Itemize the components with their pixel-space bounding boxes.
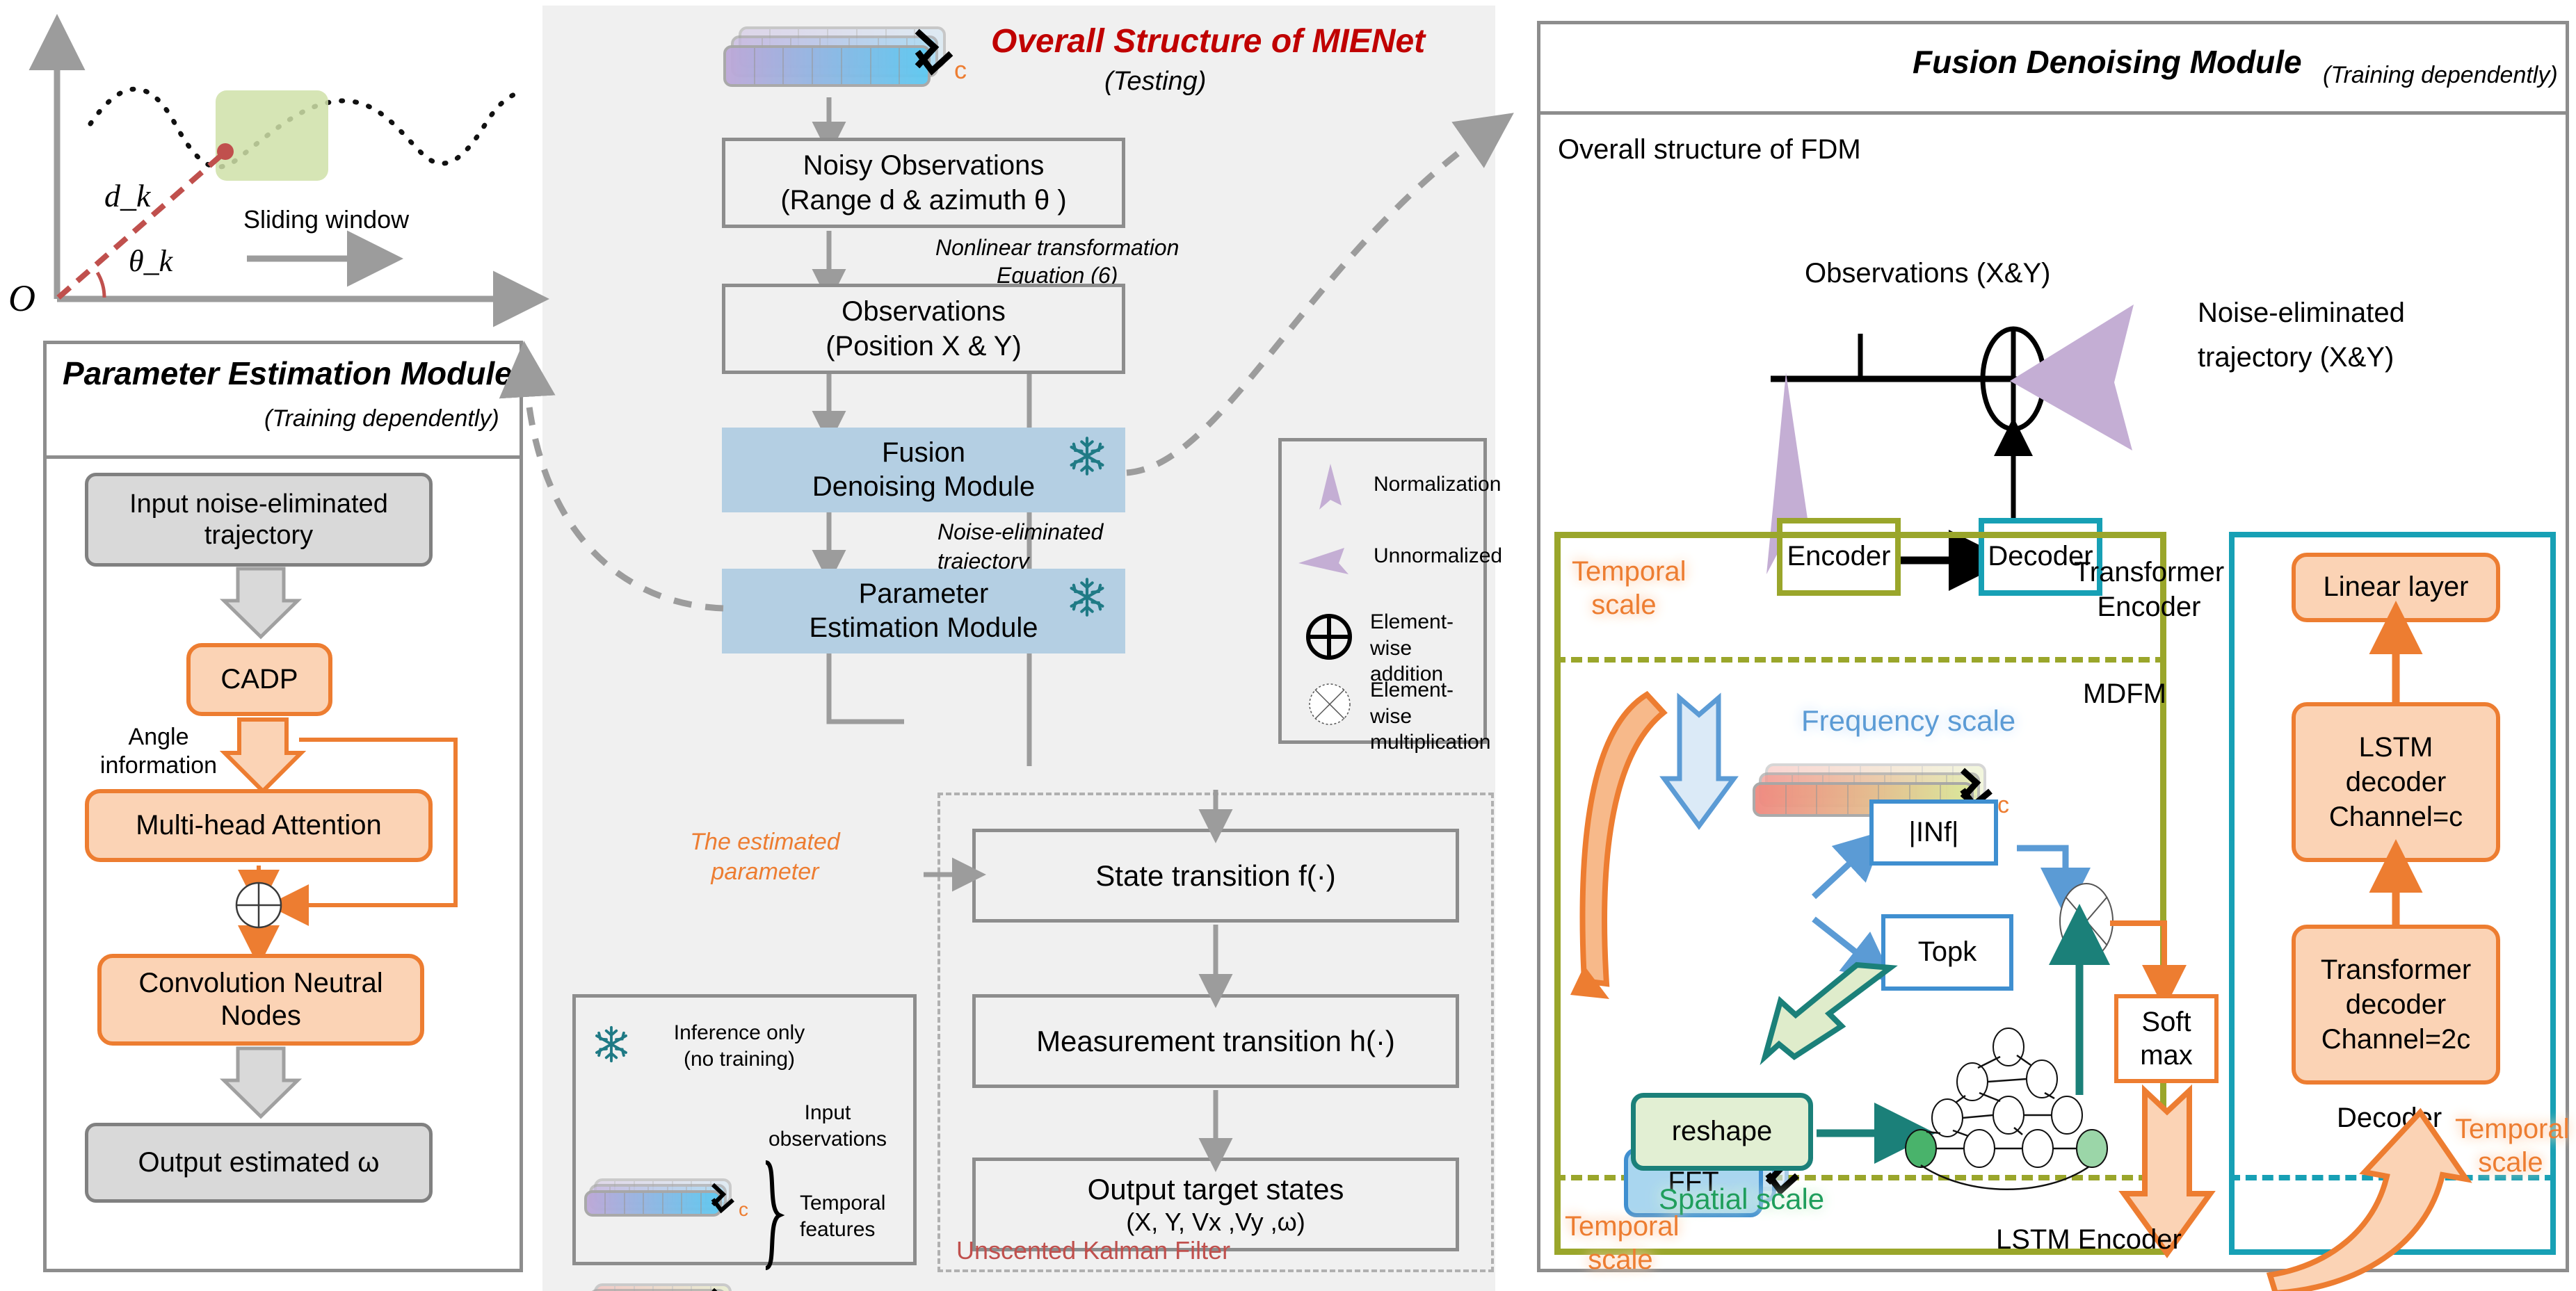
circle-times-icon: [1305, 680, 1354, 729]
decoder-transformer-decoder[interactable]: Transformer decoder Channel=2c: [2292, 925, 2500, 1085]
legend-snowflake-l1: Inference only: [674, 1021, 805, 1044]
mdfm-temporal-scale-top: Temporal scale: [1572, 555, 1676, 622]
mdfm-transformer-encoder-l1: Transformer: [2074, 557, 2224, 587]
legend-snowflake-label: Inference only (no training): [670, 1020, 809, 1072]
fdm-unnormalized-arrow: [2003, 278, 2184, 459]
legend-tensor-blue-l1: Input: [805, 1101, 851, 1124]
pem-node-output-label: Output estimated ω: [138, 1146, 380, 1179]
legend-temporal-features-brace: [762, 1161, 794, 1272]
pem-node-cadp[interactable]: CADP: [186, 643, 332, 716]
mdfm-reshape-arrow: [1760, 959, 1899, 1085]
angle-label: θ_k: [129, 243, 172, 279]
decoder-temporal-scale: Temporal scale: [2455, 1112, 2566, 1179]
range-label: d_k: [104, 177, 150, 215]
legend-tensor-blue-label: Input observations: [758, 1100, 897, 1152]
legend-temporal-features-l1: Temporal: [800, 1192, 885, 1215]
mdfm-transformer-encoder-l2: Encoder: [2098, 592, 2201, 622]
pem-node-cnn-label: Convolution Neutral Nodes: [115, 967, 406, 1032]
legend-symbol-multiplication-label: Element-wisemultiplication: [1370, 677, 1490, 756]
legend-tensor-blue: c: [584, 1178, 758, 1224]
legend-temporal-features-label: Temporal features: [800, 1190, 885, 1242]
ukf-caption: Unscented Kalman Filter: [956, 1236, 1230, 1265]
pem-subtitle: (Training dependently): [264, 405, 499, 432]
mdfm-frequency-scale-label: Frequency scale: [1801, 704, 2015, 738]
fdm-subtitle: (Training dependently): [2323, 61, 2558, 89]
center-edge-estimated-param-l2: parameter: [682, 857, 848, 887]
pem-title: Parameter Estimation Module: [63, 355, 513, 392]
legend-symbol-unnormalized: Unnormalized: [1290, 528, 1485, 594]
pem-residual-path: [77, 730, 522, 959]
legend-symbol-normalization: Normalization: [1290, 455, 1485, 521]
decoder-curved-up-arrow: [2246, 1091, 2476, 1286]
mdfm-topk-label: Topk: [1918, 936, 1977, 968]
ukf-internal-arrows: [960, 786, 1488, 1272]
pem-node-input[interactable]: Input noise-eliminated trajectory: [85, 473, 433, 567]
diagram-root: O d_k θ_k Sliding window Parameter Estim…: [0, 0, 2576, 1291]
mdfm-softmax-l1: Soft: [2140, 1005, 2193, 1039]
center-edge-estimated-param: The estimated parameter: [682, 827, 848, 886]
fdm-title: Fusion Denoising Module: [1913, 43, 2302, 81]
mdfm-divider-top: [1554, 657, 2166, 663]
mdfm-inf-box[interactable]: |INf|: [1869, 799, 1998, 866]
pem-arrow-cnn-output: [223, 1048, 299, 1118]
mdfm-temporal-scale-bottom-l2: scale: [1588, 1244, 1652, 1275]
mdfm-inf-label: |INf|: [1909, 816, 1959, 849]
down-arrow-purple-icon: [1310, 464, 1351, 514]
mdfm-temporal-scale-top-l2: scale: [1591, 590, 1656, 620]
pem-node-cadp-label: CADP: [220, 663, 298, 696]
decoder-transformer-decoder-l2: decoder: [2321, 987, 2471, 1022]
decoder-linear-layer-label: Linear layer: [2323, 571, 2468, 603]
pem-node-input-label: Input noise-eliminated trajectory: [101, 489, 417, 551]
decoder-lstm-decoder[interactable]: LSTM decoder Channel=c: [2292, 702, 2500, 862]
decoder-lstm-decoder-l1: LSTM: [2329, 730, 2463, 765]
snowflake-icon-legend: [591, 1024, 631, 1064]
fdm-output-label: Noise-eliminated trajectory (X&Y): [2198, 291, 2405, 380]
decoder-lstm-decoder-l2: decoder: [2329, 765, 2463, 799]
mdfm-temporal-scale-bottom: Temporal scale: [1565, 1210, 1676, 1276]
decoder-transformer-decoder-l1: Transformer: [2321, 952, 2471, 987]
decoder-transformer-decoder-l3: Channel=2c: [2321, 1022, 2471, 1057]
legend-symbol-addition: Element-wiseaddition: [1290, 603, 1485, 680]
fdm-output-l2: trajectory (X&Y): [2198, 342, 2394, 373]
legend-tensor-blue-l2: observations: [768, 1128, 887, 1151]
mdfm-temporal-scale-bottom-l1: Temporal: [1565, 1211, 1680, 1242]
decoder-linear-layer[interactable]: Linear layer: [2292, 553, 2500, 622]
origin-label: O: [8, 277, 35, 321]
decoder-arrow-lstm-linear: [2375, 619, 2424, 709]
legend-snowflake-l2: (no training): [684, 1048, 795, 1071]
legend-symbol-unnormalized-label: Unnormalized: [1374, 544, 1502, 568]
legend-tensor-warm: c: [584, 1283, 758, 1291]
mdfm-temporal-scale-top-l1: Temporal: [1572, 556, 1687, 587]
legend-symbol-multiplication: Element-wisemultiplication: [1290, 673, 1485, 749]
mdfm-reshape-label: reshape: [1672, 1115, 1773, 1148]
legend-tensor-blue-channel: c: [739, 1198, 748, 1221]
pem-node-cnn[interactable]: Convolution Neutral Nodes: [97, 954, 424, 1046]
circle-plus-icon: [1304, 612, 1354, 662]
mdfm-transformer-encoder-label: Transformer Encoder: [2069, 555, 2229, 624]
center-edge-estimated-param-l1: The estimated: [682, 827, 848, 857]
mdfm-softmax-box[interactable]: Soft max: [2114, 994, 2219, 1083]
decoder-temporal-scale-l2: scale: [2478, 1147, 2543, 1178]
sliding-window-plot: O d_k θ_k Sliding window: [0, 0, 542, 327]
fdm-overall-caption: Overall structure of FDM: [1558, 133, 1861, 166]
decoder-arrow-transformer-lstm: [2375, 859, 2424, 932]
mdfm-caption: MDFM: [2083, 678, 2166, 711]
decoder-lstm-decoder-l3: Channel=c: [2329, 799, 2463, 834]
legend-symbol-normalization-label: Normalization: [1374, 472, 1501, 496]
mdfm-graph-to-multiply-arrow: [2062, 925, 2104, 1105]
mdfm-orange-curve-arrow: [1566, 685, 1691, 1032]
decoder-temporal-scale-l1: Temporal: [2455, 1114, 2570, 1144]
mdfm-topk-box[interactable]: Topk: [1881, 914, 2013, 991]
mdfm-spatial-scale-label: Spatial scale: [1659, 1182, 1824, 1217]
fdm-header-divider: [1537, 111, 2569, 115]
mdfm-softmax-l2: max: [2140, 1039, 2193, 1072]
legend-temporal-features-l2: features: [800, 1218, 875, 1241]
pem-arrow-input-cadp: [223, 569, 299, 638]
mdfm-lstm-encoder-label: LSTM Encoder: [1996, 1224, 2182, 1256]
pem-header-divider: [43, 455, 523, 459]
mdfm-reshape-box[interactable]: reshape: [1631, 1093, 1813, 1171]
fdm-output-l1: Noise-eliminated: [2198, 298, 2405, 328]
right-arrow-purple-icon: [1298, 542, 1361, 584]
pem-node-output[interactable]: Output estimated ω: [85, 1123, 433, 1203]
legend-snowflake-row: Inference only (no training): [588, 1018, 908, 1081]
decoder-dashed-left: [2229, 532, 2235, 1255]
sliding-window-label: Sliding window: [243, 205, 409, 234]
